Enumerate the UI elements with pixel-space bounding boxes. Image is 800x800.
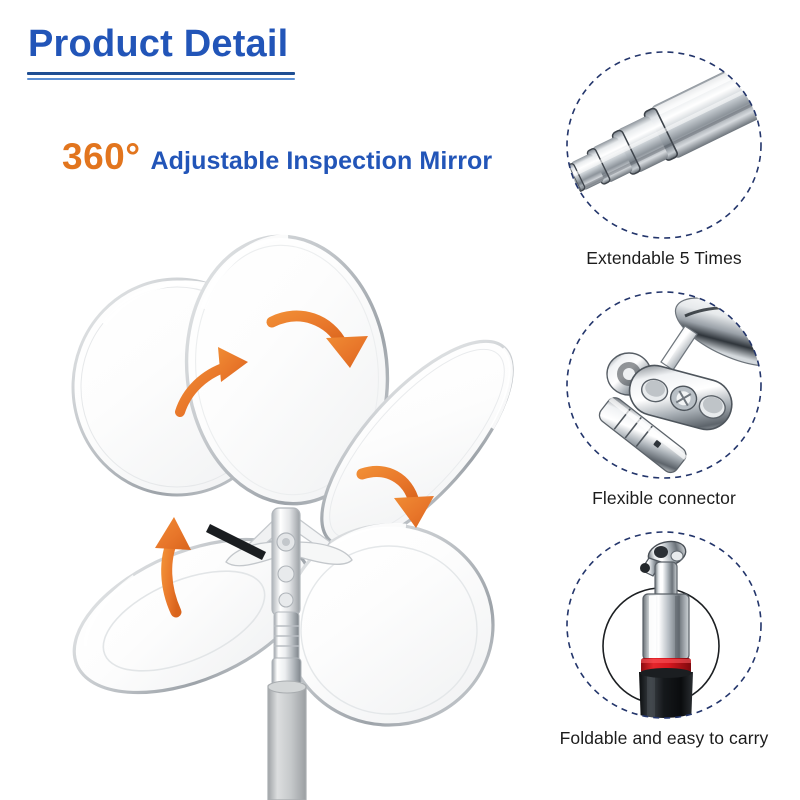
title-underline-thin [27,78,295,80]
feature-item-foldable: Foldable and easy to carry [530,528,798,749]
feature-item-extendable: Extendable 5 Times [530,48,798,269]
subtitle-text: Adjustable Inspection Mirror [151,147,493,176]
telescoping-shaft [272,612,301,690]
folded-mirror-with-black-grip-photo [557,528,772,726]
telescoping-chrome-pole-photo [557,48,772,246]
subtitle: 360° Adjustable Inspection Mirror [62,136,492,178]
grip-handle [268,681,306,800]
page-title: Product Detail [28,24,446,66]
page-header: Product Detail [26,24,446,80]
chrome-swivel-joint-photo [557,288,772,486]
feature-caption-foldable: Foldable and easy to carry [530,728,798,749]
title-underline-thick [27,72,295,75]
product-detail-page: Product Detail 360° Adjustable Inspectio… [0,0,800,800]
feature-list: Extendable 5 Times [530,40,798,780]
feature-item-connector: Flexible connector [530,288,798,509]
subtitle-degrees: 360° [62,136,141,178]
feature-caption-connector: Flexible connector [530,488,798,509]
title-underline [27,72,295,80]
feature-caption-extendable: Extendable 5 Times [530,248,798,269]
hero-product-illustration [34,212,534,800]
